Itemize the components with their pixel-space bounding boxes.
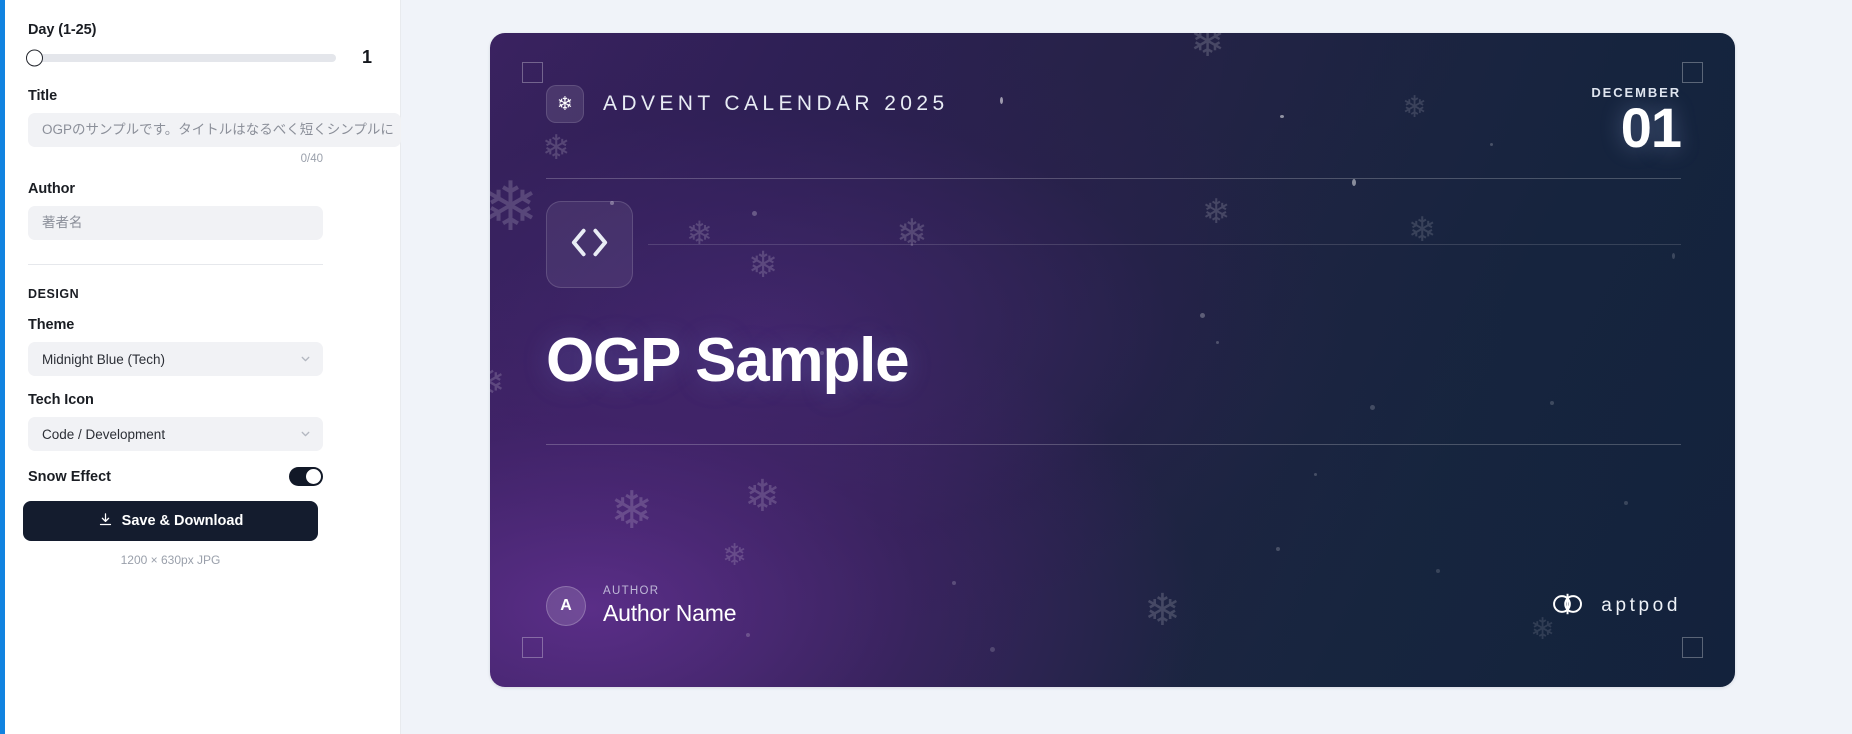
snow-effect-row: Snow Effect — [28, 467, 323, 486]
chevron-down-icon — [299, 428, 312, 441]
tech-icon-divider — [648, 244, 1681, 245]
chevron-down-icon — [299, 353, 312, 366]
header-divider — [546, 178, 1681, 179]
toggle-knob — [306, 469, 321, 484]
author-group: A AUTHOR Author Name — [546, 585, 736, 627]
app-root: Day (1-25) 1 Title OGPのサンプルです。タイトルはなるべく短… — [0, 0, 1852, 734]
settings-sidebar: Day (1-25) 1 Title OGPのサンプルです。タイトルはなるべく短… — [0, 0, 401, 734]
sidebar-divider — [28, 264, 323, 265]
day-slider-value: 1 — [354, 47, 372, 68]
card-title: OGP Sample — [546, 325, 908, 396]
theme-label: Theme — [28, 317, 372, 333]
tech-icon-label: Tech Icon — [28, 392, 372, 408]
author-kicker: AUTHOR — [603, 585, 736, 597]
theme-select[interactable]: Midnight Blue (Tech) — [28, 342, 323, 376]
logo-wordmark: aptpod — [1601, 595, 1681, 617]
date-day: 01 — [1591, 102, 1681, 154]
corner-bracket-bottom-left — [522, 637, 543, 658]
snow-effect-toggle[interactable] — [289, 467, 323, 486]
theme-select-value: Midnight Blue (Tech) — [42, 352, 165, 367]
avatar: A — [546, 586, 586, 626]
title-input[interactable]: OGPのサンプルです。タイトルはなるべく短くシンプルに — [28, 113, 401, 147]
author-input[interactable]: 著者名 — [28, 206, 323, 240]
title-char-counter: 0/40 — [28, 153, 323, 165]
author-label: Author — [28, 181, 372, 197]
tech-icon-tile — [546, 201, 633, 288]
export-size-meta: 1200 × 630px JPG — [23, 553, 318, 567]
ogp-preview-card: ❄ ❄ ❄ ❄ ❄ ❄ ❄ ❄ ❄ ❄ ❄ ❄ ❄ ❄ ❄ — [490, 33, 1735, 687]
snowflake-icon: ❄ — [546, 85, 584, 123]
day-slider-thumb[interactable] — [26, 49, 43, 66]
save-download-button[interactable]: Save & Download — [23, 501, 318, 541]
snow-effect-label: Snow Effect — [28, 469, 111, 485]
download-icon — [98, 512, 113, 531]
day-slider[interactable] — [28, 54, 336, 62]
design-section-title: DESIGN — [28, 287, 372, 301]
footer-divider — [546, 444, 1681, 445]
author-name: Author Name — [603, 600, 736, 627]
corner-bracket-top-right — [1682, 62, 1703, 83]
card-footer: A AUTHOR Author Name aptpod — [546, 585, 1681, 627]
brand-title: ADVENT CALENDAR 2025 — [603, 92, 949, 116]
save-download-label: Save & Download — [122, 513, 244, 529]
brand-group: ❄ ADVENT CALENDAR 2025 — [546, 85, 949, 123]
title-label: Title — [28, 88, 372, 104]
corner-bracket-top-left — [522, 62, 543, 83]
aptpod-logo-icon — [1549, 591, 1587, 622]
day-slider-row: 1 — [28, 47, 372, 68]
date-block: DECEMBER 01 — [1591, 85, 1681, 154]
tech-icon-select-value: Code / Development — [42, 427, 165, 442]
logo-group: aptpod — [1549, 591, 1681, 622]
tech-icon-select[interactable]: Code / Development — [28, 417, 323, 451]
card-header: ❄ ADVENT CALENDAR 2025 DECEMBER 01 — [546, 85, 1681, 154]
corner-bracket-bottom-right — [1682, 637, 1703, 658]
preview-canvas: ❄ ❄ ❄ ❄ ❄ ❄ ❄ ❄ ❄ ❄ ❄ ❄ ❄ ❄ ❄ — [401, 0, 1852, 734]
author-text-group: AUTHOR Author Name — [603, 585, 736, 627]
day-slider-label: Day (1-25) — [28, 22, 372, 38]
code-brackets-icon — [566, 219, 613, 271]
left-accent-rail — [0, 0, 5, 734]
